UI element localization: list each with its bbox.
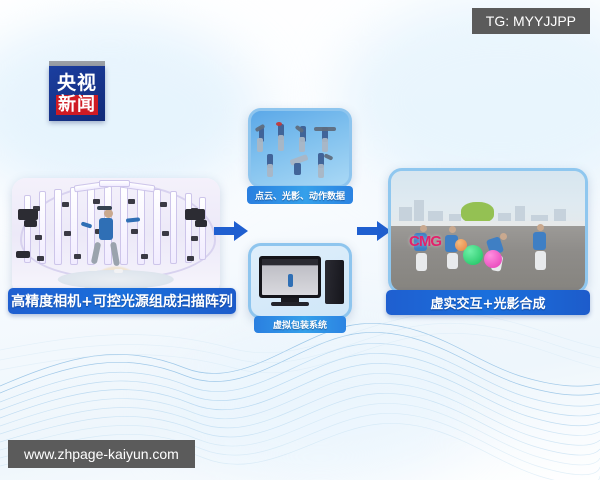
cmg-logo: CMG	[409, 233, 441, 250]
tree-cluster	[461, 202, 494, 222]
arrow-right-icon-2	[357, 221, 391, 241]
caption-virtual-packaging: 虚拟包装系统	[254, 316, 346, 333]
pose-figures-group	[251, 111, 349, 185]
watermark-bottom-left: www.zhpage-kaiyun.com	[8, 440, 195, 468]
cctv-news-logo: 央视 新闻	[49, 66, 105, 121]
caption-pointcloud-data: 点云、光影、动作数据	[247, 186, 353, 204]
panel-workstation	[248, 243, 352, 319]
arrow-right-icon-1	[214, 221, 248, 241]
background-glow-left	[0, 20, 260, 200]
dancer-head	[104, 209, 113, 218]
pc-tower	[325, 260, 344, 304]
monitor	[259, 256, 321, 298]
dancer-cap	[97, 206, 112, 210]
monitor-base	[271, 302, 309, 306]
infographic-canvas: 央视 新闻	[0, 0, 600, 480]
logo-line-1: 央视	[57, 73, 97, 93]
dancer-shoe-right	[114, 269, 123, 273]
caption-scanning-array: 高精度相机+可控光源组成扫描阵列	[8, 288, 236, 314]
screen-dancer-figure	[288, 274, 293, 287]
dome-floor	[58, 270, 174, 289]
dancer-torso	[99, 218, 113, 240]
monitor-screen	[262, 259, 318, 295]
software-toolbar	[262, 259, 318, 265]
dancer-shoe-left	[89, 267, 98, 271]
logo-line-2: 新闻	[56, 95, 98, 115]
panel-pose-capture	[248, 108, 352, 188]
caption-virtual-real-interaction: 虚实交互+光影合成	[386, 290, 590, 315]
panel-output-scene: CMG	[388, 168, 588, 294]
panel-scanning-dome	[12, 178, 220, 296]
watermark-top-right: TG: MYYJJPP	[472, 8, 590, 34]
scan-dome-artwork	[12, 178, 220, 296]
background-glow-bottom	[170, 330, 470, 480]
